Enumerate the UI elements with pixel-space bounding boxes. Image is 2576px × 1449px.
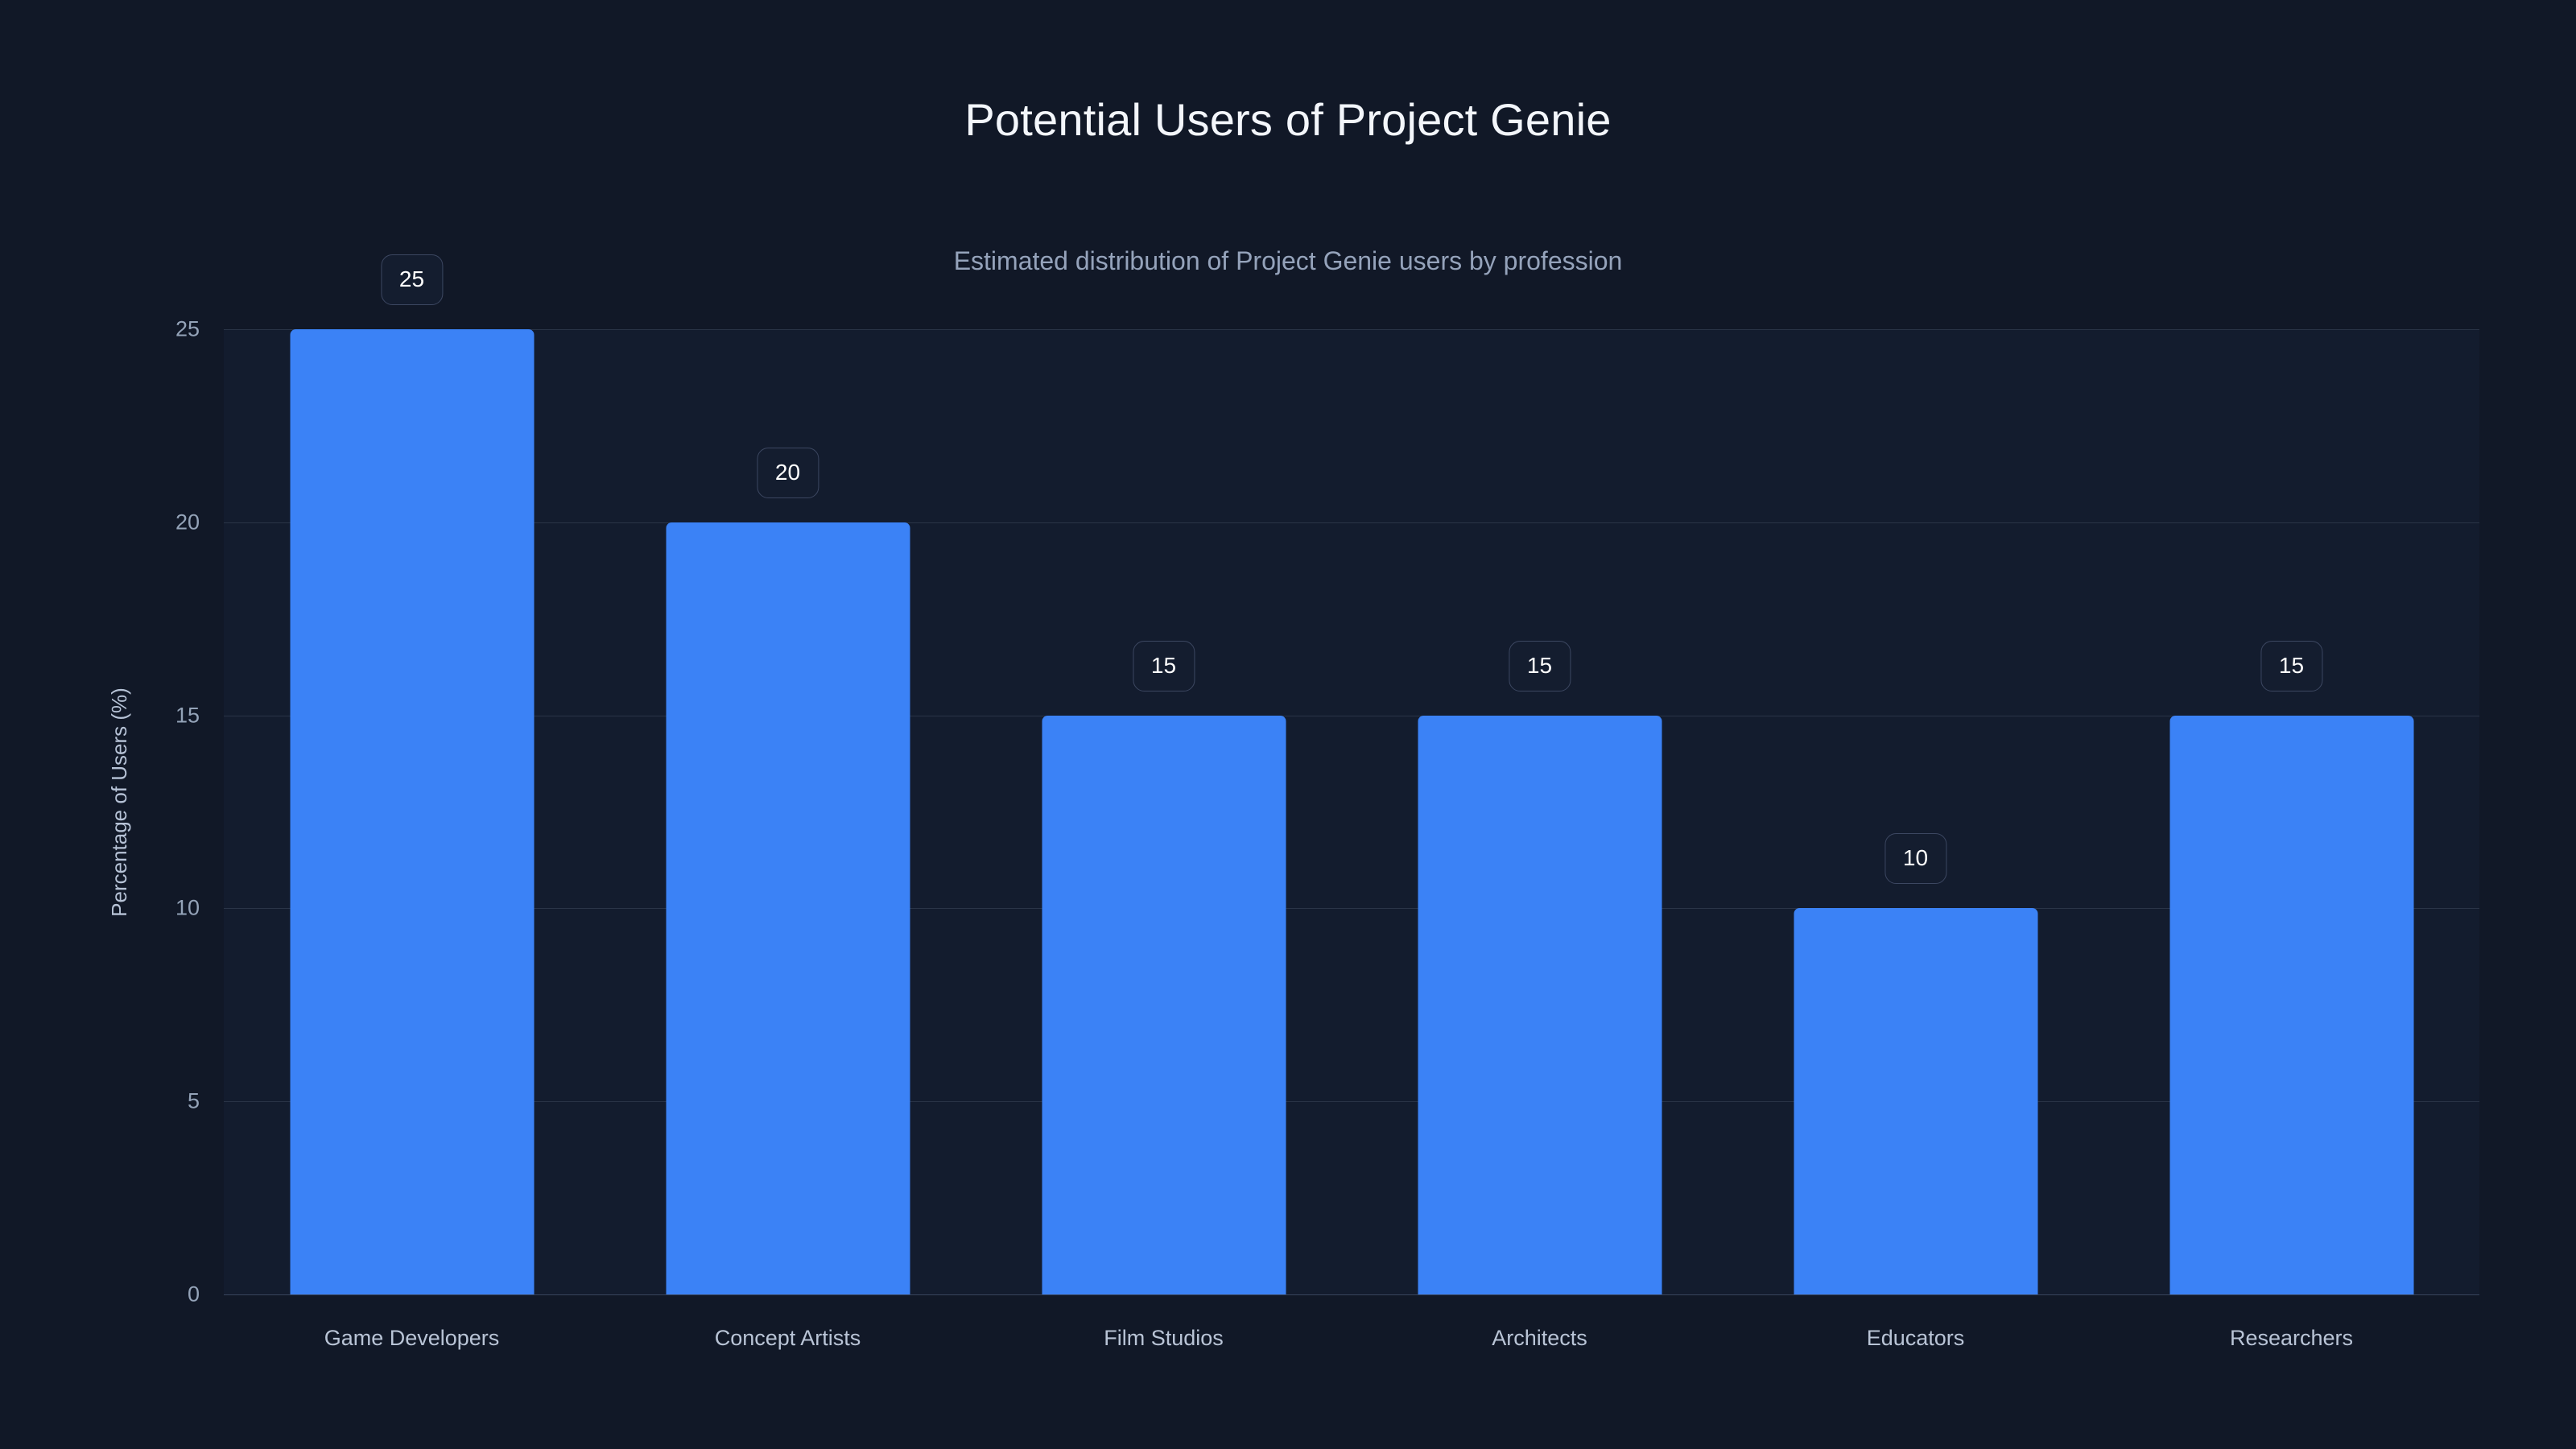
bar-group[interactable]: 20Concept Artists <box>600 0 976 1449</box>
y-axis-tick-label: 25 <box>151 317 200 342</box>
bar[interactable] <box>290 329 534 1294</box>
bar-value-badge: 15 <box>2260 641 2322 691</box>
bar[interactable] <box>1794 908 2037 1294</box>
bar[interactable] <box>1042 716 1286 1294</box>
x-axis-category-label: Game Developers <box>324 1326 500 1351</box>
x-axis-category-label: Researchers <box>2230 1326 2353 1351</box>
y-axis-tick-label: 15 <box>151 703 200 728</box>
y-axis-title: Percentage of Users (%) <box>103 665 135 939</box>
y-axis-tick-label: 5 <box>151 1089 200 1114</box>
y-axis-title-text: Percentage of Users (%) <box>107 687 132 917</box>
bar[interactable] <box>666 522 910 1294</box>
bar-group[interactable]: 25Game Developers <box>224 0 600 1449</box>
bar-group[interactable]: 15Film Studios <box>976 0 1352 1449</box>
x-axis-category-label: Educators <box>1867 1326 1965 1351</box>
y-axis-tick-label: 20 <box>151 510 200 535</box>
bar-group[interactable]: 10Educators <box>1728 0 2103 1449</box>
bar[interactable] <box>1418 716 1662 1294</box>
x-axis-category-label: Film Studios <box>1104 1326 1224 1351</box>
bars-layer: 25Game Developers20Concept Artists15Film… <box>224 0 2479 1449</box>
bar-group[interactable]: 15Architects <box>1352 0 1728 1449</box>
y-axis-tick-label: 10 <box>151 896 200 921</box>
bar-value-badge: 15 <box>1509 641 1571 691</box>
x-axis-category-label: Architects <box>1492 1326 1587 1351</box>
bar-value-badge: 20 <box>757 448 819 498</box>
bar-value-badge: 10 <box>1885 833 1946 884</box>
bar-value-badge: 15 <box>1133 641 1195 691</box>
bar-group[interactable]: 15Researchers <box>2103 0 2479 1449</box>
bar[interactable] <box>2169 716 2413 1294</box>
y-axis-tick-label: 0 <box>151 1282 200 1307</box>
y-axis-tick-labels: 0510152025 <box>143 0 200 1449</box>
x-axis-category-label: Concept Artists <box>715 1326 861 1351</box>
chart-page: Potential Users of Project Genie Estimat… <box>0 0 2576 1449</box>
bar-value-badge: 25 <box>381 254 443 305</box>
